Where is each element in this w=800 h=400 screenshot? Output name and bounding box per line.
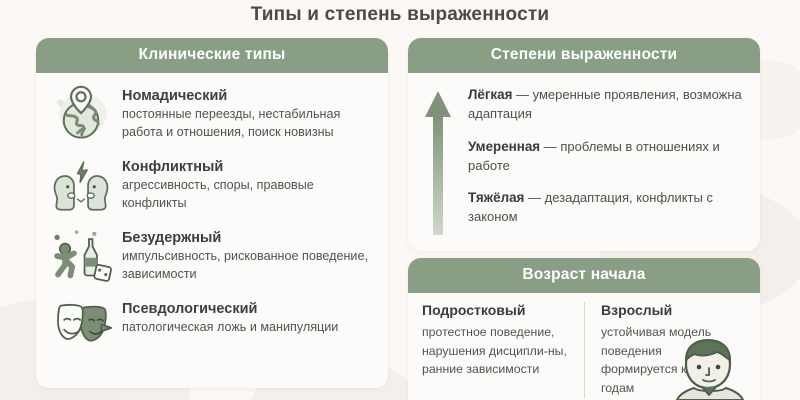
list-item: Безудержный импульсивность, рискованное … — [50, 225, 374, 287]
theater-masks-icon — [50, 296, 112, 358]
list-item-text: Номадический постоянные переезды, нестаб… — [122, 83, 374, 142]
list-item: Умеренная — проблемы в отношениях и рабо… — [468, 137, 746, 176]
panel-severity-degrees-body: Лёгкая — умеренные проявления, возможна … — [408, 73, 760, 247]
panel-clinical-types-header: Клинические типы — [36, 38, 388, 73]
severity-dash: — — [516, 87, 529, 102]
arguing-heads-icon — [50, 154, 112, 216]
up-arrow-icon — [424, 85, 454, 237]
list-item-desc: агрессивность, споры, правовые конфликты — [122, 177, 374, 213]
list-item: Номадический постоянные переезды, нестаб… — [50, 83, 374, 145]
man-portrait-icon — [664, 336, 756, 400]
severity-name: Тяжёлая — [468, 190, 524, 205]
age-column-desc: протестное поведение, нарушения дисципли… — [422, 323, 572, 379]
globe-pin-icon — [50, 83, 112, 145]
panel-clinical-types: Клинические типы Номадический постоянные… — [36, 38, 388, 388]
list-item-desc: патологическая ложь и манипуляции — [122, 319, 338, 337]
page-title: Типы и степень выраженности — [0, 4, 800, 26]
severity-list: Лёгкая — умеренные проявления, возможна … — [468, 85, 746, 237]
list-item-title: Безудержный — [122, 229, 374, 247]
list-item-text: Конфликтный агрессивность, споры, правов… — [122, 154, 374, 213]
list-item: Псевдологический патологическая ложь и м… — [50, 296, 374, 358]
panel-severity-degrees: Степени выраженности Лёгкая — умеренны — [408, 38, 760, 251]
list-item-title: Псевдологический — [122, 300, 338, 318]
age-column-title: Взрослый — [601, 302, 734, 318]
severity-name: Лёгкая — [468, 87, 512, 102]
panel-severity-degrees-header: Степени выраженности — [408, 38, 760, 73]
list-item-text: Псевдологический патологическая ложь и м… — [122, 296, 338, 337]
panel-age-of-onset-header: Возраст начала — [408, 258, 760, 293]
list-item: Тяжёлая — дезадаптация, конфликты с зако… — [468, 188, 746, 227]
panel-age-of-onset: Возраст начала Подростковый протестное п… — [408, 258, 760, 400]
age-column-title: Подростковый — [422, 302, 572, 318]
list-item: Лёгкая — умеренные проявления, возможна … — [468, 85, 746, 124]
age-column-adolescent: Подростковый протестное поведение, наруш… — [422, 302, 584, 398]
list-item-title: Номадический — [122, 87, 374, 105]
list-item-desc: постоянные переезды, нестабильная работа… — [122, 106, 374, 142]
list-item: Конфликтный агрессивность, споры, правов… — [50, 154, 374, 216]
severity-dash: — — [528, 190, 541, 205]
running-man-bottle-dice-icon — [50, 225, 112, 287]
list-item-desc: импульсивность, рискованное поведение, з… — [122, 248, 374, 284]
list-item-text: Безудержный импульсивность, рискованное … — [122, 225, 374, 284]
severity-dash: — — [544, 139, 557, 154]
severity-name: Умеренная — [468, 139, 540, 154]
panel-clinical-types-body: Номадический постоянные переезды, нестаб… — [36, 73, 388, 375]
list-item-title: Конфликтный — [122, 158, 374, 176]
